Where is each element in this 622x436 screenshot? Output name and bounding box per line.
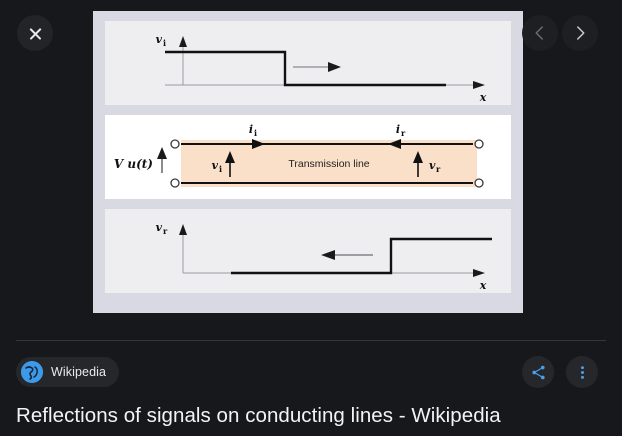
next-image-button[interactable] [562,15,598,51]
reflected-y-axis-label: v [156,221,163,234]
terminal-bottom-right [475,179,483,187]
reflected-x-axis-label: x [479,279,487,292]
figure-panel-transmission-line: V u(t) i i i r v i v r Transmission line [105,115,511,199]
incident-current-label: i [249,123,253,136]
source-name: Wikipedia [51,365,106,379]
source-label: V u(t) [114,157,153,171]
incident-voltage-label: v [212,159,219,172]
chevron-left-icon [531,24,549,42]
viewer-toolbar [0,0,622,66]
share-icon [530,364,547,381]
transmission-line-diagram: V u(t) i i i r v i v r Transmission line [105,115,511,199]
reflected-y-axis-subscript: r [163,226,168,236]
terminal-top-right [475,140,483,148]
incident-voltage-subscript: i [219,164,222,174]
incident-x-axis-label: x [479,91,487,104]
globe-icon [21,361,43,383]
reflected-wave-diagram: v r x [105,209,511,293]
transmission-line-label: Transmission line [288,158,369,170]
page-title[interactable]: Reflections of signals on conducting lin… [16,402,608,429]
chevron-right-icon [571,24,589,42]
previous-image-button[interactable] [522,15,558,51]
reflected-current-subscript: r [401,128,406,138]
more-options-button[interactable] [566,356,598,388]
terminal-bottom-left [171,179,179,187]
close-icon [28,26,43,41]
share-button[interactable] [522,356,554,388]
figure-panel-reflected: v r x [105,209,511,293]
reflected-current-label: i [396,123,400,136]
incident-current-subscript: i [254,128,257,138]
reflected-voltage-label: v [429,159,436,172]
close-button[interactable] [17,15,53,51]
source-chip[interactable]: Wikipedia [16,357,119,387]
terminal-top-left [171,140,179,148]
more-vertical-icon [574,364,591,381]
divider [16,340,606,341]
